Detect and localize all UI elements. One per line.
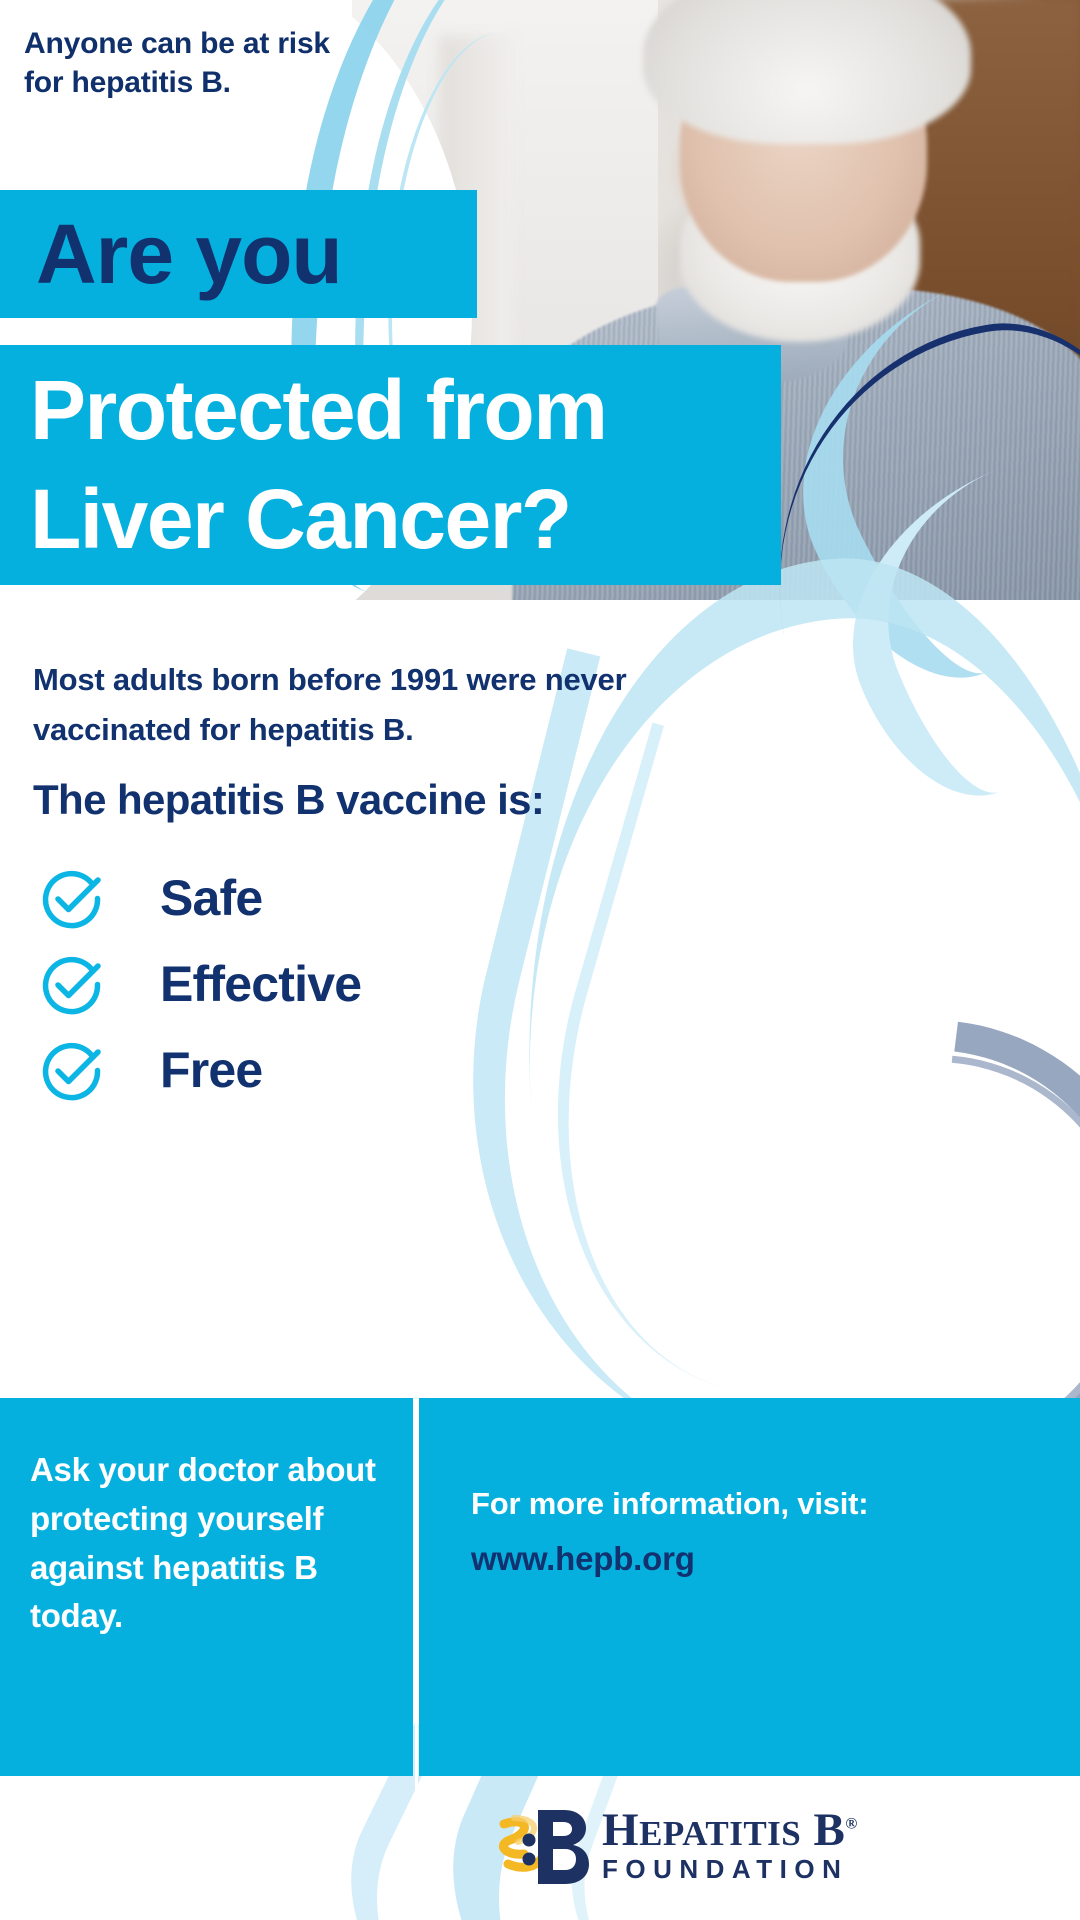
headline-line-2: Protected from [30,356,606,465]
more-information-label: For more information, visit: [471,1486,868,1522]
check-circle-icon [36,948,108,1020]
vaccine-benefits-list: Safe Effective Free [36,855,596,1113]
kicker-text: Anyone can be at risk for hepatitis B. [24,24,354,102]
list-item-label: Effective [160,959,361,1009]
website-url[interactable]: www.hepb.org [471,1540,695,1578]
list-item-label: Free [160,1045,262,1095]
logo-h-cap: H [602,1804,639,1856]
logo-b-helix-icon [498,1802,594,1890]
headline-band-are-you: Are you [0,190,477,318]
logo-b-letter: B [814,1804,846,1856]
logo-subtitle: FOUNDATION [602,1854,848,1884]
headline-line-1: Are you [36,212,342,296]
more-information-panel: For more information, visit: www.hepb.or… [419,1398,1080,1776]
logo-wordmark: HEPATITIS B® FOUNDATION [602,1807,1080,1885]
body-paragraph: Most adults born before 1991 were never … [33,655,673,755]
list-item: Free [36,1027,596,1113]
logo-title-line: HEPATITIS B® [602,1804,858,1856]
list-item: Effective [36,941,596,1027]
logo-epatitis: EPATITIS [639,1814,801,1853]
check-circle-icon [36,1034,108,1106]
headline-line-3: Liver Cancer? [30,465,571,574]
list-item-label: Safe [160,873,262,923]
call-to-action-text: Ask your doctor about protecting yoursel… [30,1446,390,1641]
poster-root: Anyone can be at risk for hepatitis B. A… [0,0,1080,1920]
headline-band-protected: Protected from Liver Cancer? [0,345,781,585]
registered-mark-icon: ® [845,1815,857,1832]
panel-divider [415,1398,418,1818]
list-item: Safe [36,855,596,941]
photo-hair [643,0,971,144]
vaccine-subheading: The hepatitis B vaccine is: [33,775,733,825]
call-to-action-panel: Ask your doctor about protecting yoursel… [0,1398,413,1776]
hepatitis-b-foundation-logo: HEPATITIS B® FOUNDATION [498,1800,1080,1892]
check-circle-icon [36,862,108,934]
